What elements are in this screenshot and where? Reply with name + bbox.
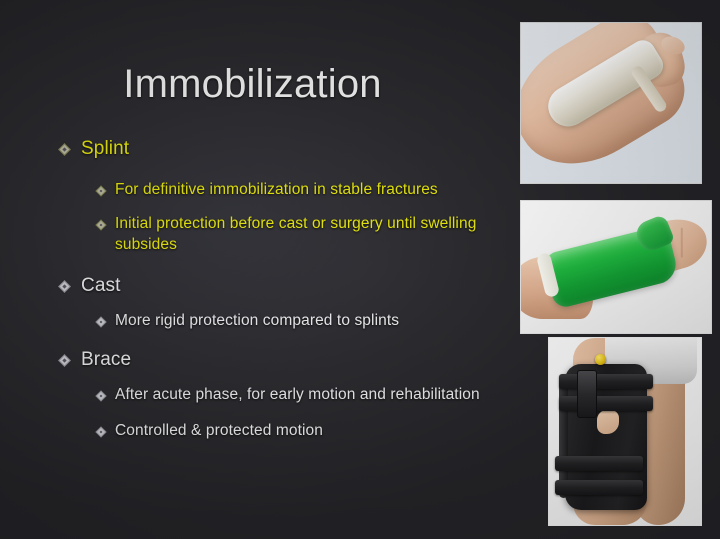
list-item-label: After acute phase, for early motion and … — [115, 384, 510, 405]
list-item-label: For definitive immobilization in stable … — [115, 179, 510, 200]
diamond-bullet-icon — [95, 219, 104, 228]
list-item-label: Brace — [81, 347, 510, 372]
outline-list: Splint For definitive immobilization in … — [58, 136, 510, 441]
brace-buckle — [577, 370, 597, 418]
diamond-bullet-icon — [95, 426, 104, 435]
brace-hinge-icon — [595, 354, 606, 365]
list-item-label: Controlled & protected motion — [115, 420, 510, 441]
list-item-splint: Splint — [58, 136, 510, 161]
diamond-bullet-icon — [58, 280, 69, 291]
list-item-label: Initial protection before cast or surger… — [115, 213, 510, 255]
brace-strap — [559, 374, 653, 389]
list-item-brace: Brace — [58, 347, 510, 372]
diamond-bullet-icon — [95, 316, 104, 325]
list-item-brace-sub-2: Controlled & protected motion — [58, 420, 510, 441]
list-item-label: Cast — [81, 273, 510, 298]
cast-photo — [520, 200, 712, 334]
page-title: Immobilization — [0, 62, 505, 106]
brace-strap — [555, 456, 643, 471]
list-item-cast-sub-1: More rigid protection compared to splint… — [58, 310, 510, 331]
diamond-bullet-icon — [95, 390, 104, 399]
slide-canvas: Immobilization Splint For definitive imm… — [0, 0, 720, 539]
list-item-label: More rigid protection compared to splint… — [115, 310, 510, 331]
list-item-splint-sub-2: Initial protection before cast or surger… — [58, 213, 510, 255]
diamond-bullet-icon — [58, 354, 69, 365]
diamond-bullet-icon — [95, 185, 104, 194]
list-item-brace-sub-1: After acute phase, for early motion and … — [58, 384, 510, 405]
list-item-cast: Cast — [58, 273, 510, 298]
brace-strap — [559, 396, 653, 411]
list-item-splint-sub-1: For definitive immobilization in stable … — [58, 179, 510, 200]
brace-photo — [548, 337, 702, 526]
brace-strap — [555, 480, 643, 495]
list-item-label: Splint — [81, 136, 510, 161]
diamond-bullet-icon — [58, 143, 69, 154]
splint-photo — [520, 22, 702, 184]
